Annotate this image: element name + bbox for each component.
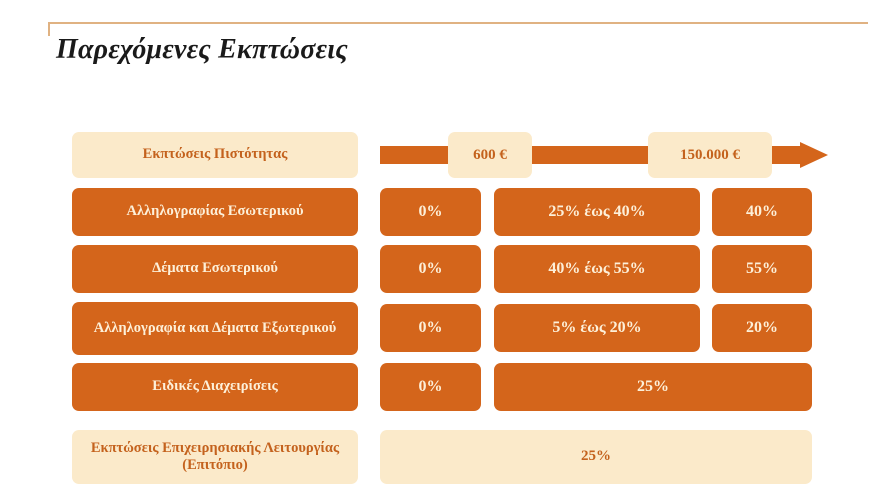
row-3-value-merged: 25% xyxy=(494,363,812,411)
row-1-value-1: 40% έως 55% xyxy=(494,245,700,293)
row-2-value-2: 20% xyxy=(712,304,812,352)
right-arrow-icon-head xyxy=(800,142,828,168)
row-label-domestic-parcels: Δέματα Εσωτερικού xyxy=(72,245,358,293)
discounts-table: Εκπτώσεις Πιστότητας 600 € 150.000 € Αλλ… xyxy=(0,0,880,500)
row-2-value-1: 5% έως 20% xyxy=(494,304,700,352)
tier-chip-lower: 600 € xyxy=(448,132,532,178)
footer-value: 25% xyxy=(380,430,812,484)
row-label-domestic-mail: Αλληλογραφίας Εσωτερικού xyxy=(72,188,358,236)
row-0-value-0: 0% xyxy=(380,188,481,236)
row-1-value-0: 0% xyxy=(380,245,481,293)
row-0-value-2: 40% xyxy=(712,188,812,236)
header-label-loyalty-discounts: Εκπτώσεις Πιστότητας xyxy=(72,132,358,178)
row-0-value-1: 25% έως 40% xyxy=(494,188,700,236)
row-label-special-handling: Ειδικές Διαχειρίσεις xyxy=(72,363,358,411)
row-label-international-mail-parcels: Αλληλογραφία και Δέματα Εξωτερικού xyxy=(72,302,358,355)
row-2-value-0: 0% xyxy=(380,304,481,352)
tier-chip-upper: 150.000 € xyxy=(648,132,772,178)
row-3-value-0: 0% xyxy=(380,363,481,411)
footer-label-operational-discounts: Εκπτώσεις Επιχειρησιακής Λειτουργίας (Επ… xyxy=(72,430,358,484)
row-1-value-2: 55% xyxy=(712,245,812,293)
